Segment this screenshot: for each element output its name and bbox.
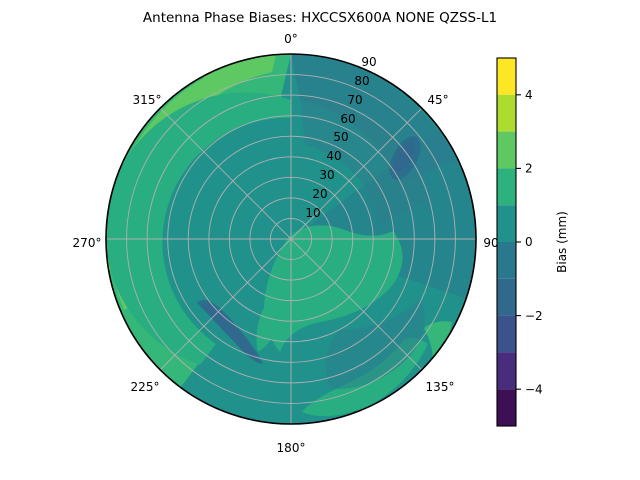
colorbar-tick-label-m4: −4 xyxy=(525,382,543,396)
colorbar-tick-label-2: 2 xyxy=(525,162,533,176)
radial-tick-70: 70 xyxy=(347,93,362,107)
angular-tick-270: 270° xyxy=(73,236,102,250)
angular-tick-180: 180° xyxy=(277,441,306,455)
colorbar-band-1to2 xyxy=(497,168,516,205)
colorbar-band-m3tom2 xyxy=(497,316,516,353)
colorbar-band-2to3 xyxy=(497,132,516,169)
radial-tick-50: 50 xyxy=(333,130,348,144)
colorbar-axis-label: Bias (mm) xyxy=(555,211,569,273)
colorbar-band-3to4 xyxy=(497,95,516,132)
colorbar-band-m1to0 xyxy=(497,242,516,279)
radial-tick-40: 40 xyxy=(326,149,341,163)
colorbar-band-4to5 xyxy=(497,58,516,95)
angular-tick-135: 135° xyxy=(426,380,455,394)
colorbar-tick-label-0: 0 xyxy=(525,235,533,249)
radial-tick-10: 10 xyxy=(305,206,320,220)
colorbar-band-m4tom3 xyxy=(497,352,516,389)
colorbar-tick-label-4: 4 xyxy=(525,88,533,102)
angular-tick-225: 225° xyxy=(131,380,160,394)
angular-tick-315: 315° xyxy=(133,93,162,107)
radial-tick-60: 60 xyxy=(340,112,355,126)
radial-tick-30: 30 xyxy=(319,168,334,182)
colorbar-band-m5tom4 xyxy=(497,389,516,426)
page-title: Antenna Phase Biases: HXCCSX600A NONE QZ… xyxy=(143,10,497,26)
colorbar-band-0to1 xyxy=(497,205,516,242)
radial-tick-20: 20 xyxy=(312,187,327,201)
radial-tick-90: 90 xyxy=(361,55,376,69)
angular-tick-0: 0° xyxy=(284,32,298,46)
colorbar-tick-label-m2: −2 xyxy=(525,309,543,323)
colorbar-band-m2tom1 xyxy=(497,279,516,316)
polar-grid xyxy=(106,54,476,424)
angular-tick-45: 45° xyxy=(427,93,448,107)
polar-contour-figure: Antenna Phase Biases: HXCCSX600A NONE QZ… xyxy=(0,0,640,480)
radial-tick-80: 80 xyxy=(354,74,369,88)
